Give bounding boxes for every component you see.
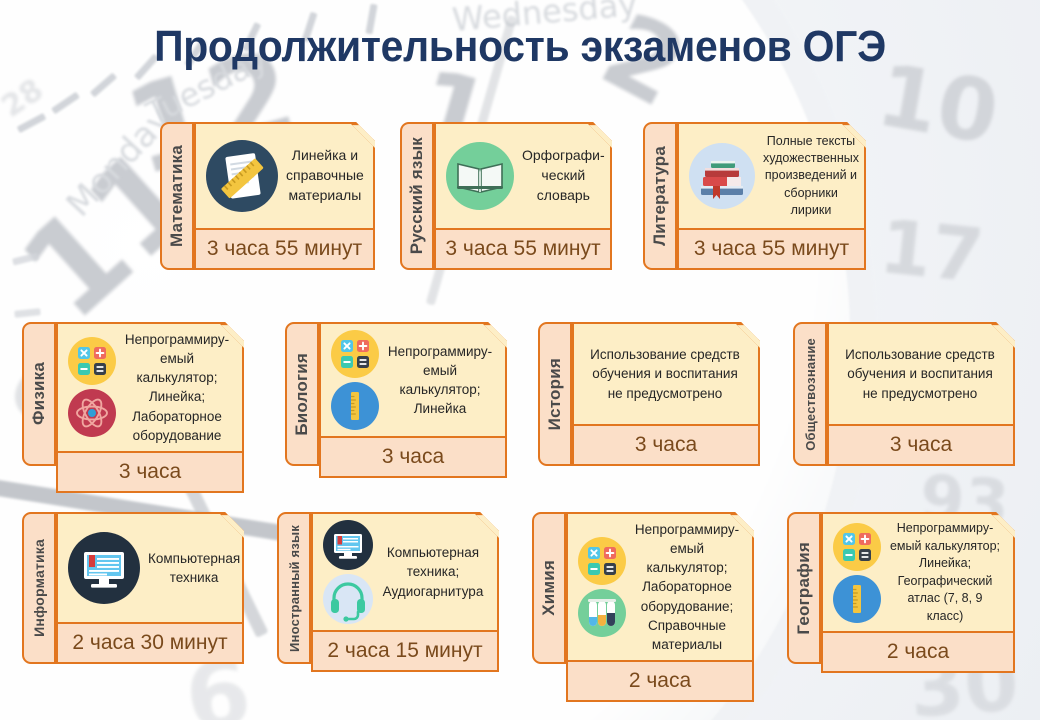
subject-label: Иностранный язык [287,525,302,652]
subject-tab-biologiya: Биология [285,322,319,466]
subject-label: Физика [29,362,49,425]
card-body: Линейка и справочные материалы 3 часа 55… [194,122,375,270]
subject-tab-khimiya: Химия [532,512,566,664]
subject-label: Русский язык [407,137,427,254]
materials-panel: Линейка и справочные материалы [194,122,375,228]
card-body: Компьютерная техника; Аудиогарнитура 2 ч… [311,512,499,664]
exam-card-russkiy-yazyk[interactable]: Русский язык Орфографи-ческий словарь [400,122,612,270]
duration-band: 3 часа 55 минут [194,228,375,270]
exam-card-istoriya[interactable]: История Использование средств обучения и… [538,322,760,466]
subject-tab-geografiya: География [787,512,821,664]
corner-cut [473,512,500,539]
card-body: Компьютерная техника 2 часа 30 минут [56,512,244,664]
icon-column [685,143,759,209]
atom-icon [68,389,116,437]
duration-band: 3 часа [572,424,760,466]
test-tubes-icon [578,589,626,637]
materials-panel: Непрограммиру-емый калькулятор; Линейка [319,322,507,436]
ruler-icon [833,575,881,623]
icon-column [64,337,120,437]
duration-band: 3 часа [56,451,244,493]
icon-column [574,537,630,637]
exam-card-matematika[interactable]: Математика [160,122,375,270]
subject-label: Математика [167,145,187,247]
exam-card-grid: Математика [0,0,1040,720]
materials-text: Непрограммиру-емый калькулятор; Лаборато… [630,520,744,654]
materials-panel: Компьютерная техника [56,512,244,622]
card-body: Непрограммиру-емый калькулятор; Лаборато… [566,512,754,664]
subject-label: Информатика [31,539,47,637]
exam-card-biologiya[interactable]: Биология [285,322,507,466]
subject-tab-istoriya: История [538,322,572,466]
icon-column [202,140,282,212]
duration-band: 2 часа 15 минут [311,630,499,672]
ruler-document-icon [206,140,278,212]
materials-panel: Непрограммиру-емый калькулятор; Линейка;… [821,512,1015,631]
exam-card-inostrannyy-yazyk[interactable]: Иностранный язык [277,512,499,664]
subject-label: История [545,358,565,430]
open-book-icon [446,142,514,210]
card-body: Использование средств обучения и воспита… [572,322,760,466]
exam-card-obshchestvoznanie[interactable]: Обществознание Использование средств обу… [793,322,1015,466]
card-body: Орфографи-ческий словарь 3 часа 55 минут [434,122,612,270]
exam-card-literatura[interactable]: Литература [643,122,866,270]
monitor-icon [68,532,140,604]
card-body: Непрограммиру-емый калькулятор; Линейка … [319,322,507,466]
subject-label: Обществознание [803,338,818,451]
card-body: Использование средств обучения и воспита… [827,322,1015,466]
subject-tab-matematika: Математика [160,122,194,270]
icon-column [327,330,383,430]
book-stack-icon [689,143,755,209]
calculator-icon [578,537,626,585]
icon-column [319,520,377,624]
card-body: Полные тексты художественных произведени… [677,122,866,270]
materials-text: Непрограммиру-емый калькулятор; Линейка;… [120,330,234,445]
page-title: Продолжительность экзаменов ОГЭ [36,22,1003,72]
subject-tab-russkiy-yazyk: Русский язык [400,122,434,270]
materials-text: Полные тексты художественных произведени… [759,133,863,219]
materials-text: Линейка и справочные материалы [282,146,368,206]
monitor-icon [323,520,373,570]
materials-panel: Компьютерная техника; Аудиогарнитура [311,512,499,630]
subject-tab-inostrannyy-yazyk: Иностранный язык [277,512,311,664]
exam-card-geografiya[interactable]: География [787,512,1015,664]
card-body: Непрограммиру-емый калькулятор; Линейка;… [56,322,244,466]
materials-text: Орфографи-ческий словарь [518,146,609,206]
duration-band: 2 часа [821,631,1015,673]
materials-panel: Непрограммиру-емый калькулятор; Линейка;… [56,322,244,451]
materials-text: Использование средств обучения и воспита… [580,345,750,402]
materials-panel: Полные тексты художественных произведени… [677,122,866,228]
exam-card-fizika[interactable]: Физика [22,322,244,466]
calculator-icon [331,330,379,378]
exam-card-informatika[interactable]: Информатика [22,512,244,664]
subject-label: География [794,542,814,635]
calculator-icon [68,337,116,385]
duration-band: 3 часа 55 минут [434,228,612,270]
subject-tab-literatura: Литература [643,122,677,270]
materials-text: Непрограммиру-емый калькулятор; Линейка [383,342,497,419]
card-body: Непрограммиру-емый калькулятор; Линейка;… [821,512,1015,664]
duration-band: 3 часа 55 минут [677,228,866,270]
ruler-icon [331,382,379,430]
calculator-icon [833,523,881,571]
duration-band: 3 часа [319,436,507,478]
headset-icon [323,574,373,624]
exam-card-khimiya[interactable]: Химия [532,512,754,664]
subject-label: Химия [539,560,559,616]
duration-band: 3 часа [827,424,1015,466]
duration-band: 2 часа [566,660,754,702]
materials-panel: Использование средств обучения и воспита… [572,322,760,424]
materials-text: Компьютерная техника [144,549,244,587]
subject-tab-informatika: Информатика [22,512,56,664]
subject-label: Литература [650,146,670,246]
corner-cut [218,512,245,539]
icon-column [64,532,144,604]
subject-tab-obshchestvoznanie: Обществознание [793,322,827,466]
corner-cut [586,122,613,149]
materials-text: Непрограммиру-емый калькулятор; Линейка;… [885,520,1005,625]
materials-panel: Орфографи-ческий словарь [434,122,612,228]
materials-panel: Непрограммиру-емый калькулятор; Лаборато… [566,512,754,660]
subject-tab-fizika: Физика [22,322,56,466]
materials-panel: Использование средств обучения и воспита… [827,322,1015,424]
materials-text: Компьютерная техника; Аудиогарнитура [377,543,489,600]
materials-text: Использование средств обучения и воспита… [835,345,1005,402]
icon-column [442,142,518,210]
subject-label: Биология [292,353,312,436]
icon-column [829,523,885,623]
corner-cut [349,122,376,149]
duration-band: 2 часа 30 минут [56,622,244,664]
